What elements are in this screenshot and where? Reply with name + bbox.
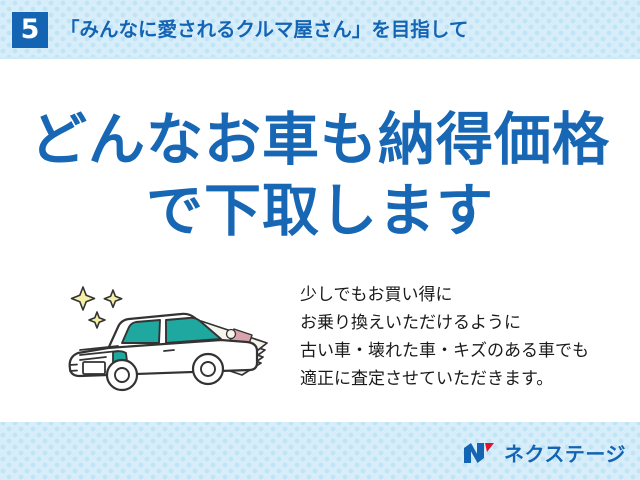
header-band: 5 「みんなに愛されるクルマ屋さん」を目指して — [0, 0, 640, 57]
header-title: 「みんなに愛されるクルマ屋さん」を目指して — [60, 13, 468, 47]
brand-wordmark: ネクステージ — [504, 438, 626, 467]
copy-line: 適正に査定させていただきます。 — [300, 365, 610, 393]
sparkle-icon — [72, 287, 122, 328]
footer-band: ネクステージ — [0, 422, 640, 480]
body-copy: 少しでもお買い得に お乗り換えいただけるように 古い車・壊れた車・キズのある車で… — [300, 281, 610, 393]
section-number-badge: 5 — [12, 12, 48, 48]
promotional-poster: 5 「みんなに愛されるクルマ屋さん」を目指して どんなお車も納得価格 で下取しま… — [0, 0, 640, 480]
headline-line-2: で下取します — [0, 180, 640, 242]
illustration-svg — [56, 271, 291, 401]
brand-logo: ネクステージ — [463, 438, 626, 467]
copy-line: 少しでもお買い得に — [300, 281, 610, 309]
copy-line: 古い車・壊れた車・キズのある車でも — [300, 337, 610, 365]
copy-line: お乗り換えいただけるように — [300, 309, 610, 337]
headline-line-1: どんなお車も納得価格 — [0, 109, 640, 171]
car-with-cash-illustration — [56, 271, 291, 401]
content-panel: どんなお車も納得価格 で下取します — [0, 59, 640, 422]
nexstage-n-mark-icon — [463, 441, 497, 465]
